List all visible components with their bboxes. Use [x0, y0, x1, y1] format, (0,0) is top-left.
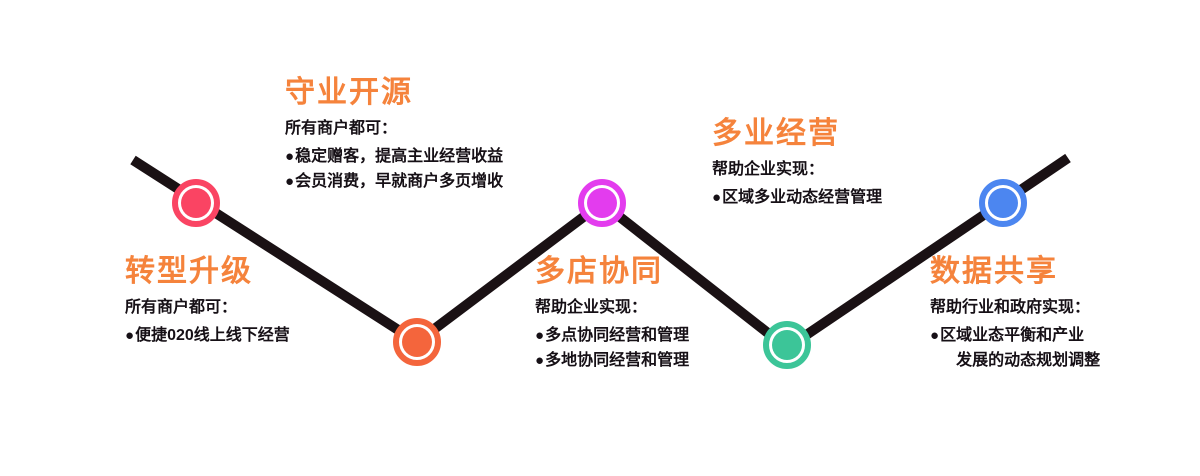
stage-bullet-list-duodian-xietong: ●多点协同经营和管理●多地协同经营和管理 [535, 323, 689, 375]
stage-bullet-list-zhuanxing-shengji: ●便捷020线上线下经营 [125, 323, 290, 349]
bullet-text: 多地协同经营和管理 [545, 348, 689, 374]
stage-lead-shuju-gongxiang: 帮助行业和政府实现： [930, 296, 1100, 320]
bullet-dot-icon: ● [285, 169, 294, 195]
bullet-dot-icon: ● [535, 348, 544, 374]
stage-title-shuju-gongxiang: 数据共享 [930, 255, 1100, 290]
stage-bullet-list-duoye-jingying: ●区域多业动态经营管理 [712, 185, 882, 211]
bullet-dot-icon: ● [125, 323, 134, 349]
node-core-dot [181, 188, 211, 218]
stage-lead-duoye-jingying: 帮助企业实现： [712, 158, 882, 182]
bullet-item: ●便捷020线上线下经营 [125, 323, 290, 349]
node-shouye-kaiyuan[interactable] [393, 318, 441, 366]
bullet-text: 便捷020线上线下经营 [135, 323, 290, 349]
bullet-line: 多地协同经营和管理 [545, 352, 689, 369]
bullet-line: 会员消费，早就商户多页增收 [295, 173, 503, 190]
stage-lead-duodian-xietong: 帮助企业实现： [535, 296, 689, 320]
bullet-line: 区域业态平衡和产业 [940, 327, 1084, 344]
bullet-text: 多点协同经营和管理 [545, 323, 689, 349]
stage-block-shouye-kaiyuan: 守业开源所有商户都可：●稳定赠客，提高主业经营收益●会员消费，早就商户多页增收 [285, 76, 503, 195]
bullet-line: 发展的动态规划调整 [940, 348, 1100, 374]
bullet-item: ●区域业态平衡和产业发展的动态规划调整 [930, 323, 1100, 375]
bullet-line: 稳定赠客，提高主业经营收益 [295, 148, 503, 165]
bullet-dot-icon: ● [535, 323, 544, 349]
node-duoye-jingying[interactable] [763, 321, 811, 369]
stage-block-duodian-xietong: 多店协同帮助企业实现：●多点协同经营和管理●多地协同经营和管理 [535, 255, 689, 374]
node-core-dot [988, 188, 1018, 218]
zigzag-path [0, 0, 1200, 476]
stage-lead-shouye-kaiyuan: 所有商户都可： [285, 117, 503, 141]
bullet-text: 会员消费，早就商户多页增收 [295, 169, 503, 195]
stage-block-zhuanxing-shengji: 转型升级所有商户都可：●便捷020线上线下经营 [125, 255, 290, 348]
bullet-item: ●会员消费，早就商户多页增收 [285, 169, 503, 195]
bullet-item: ●多点协同经营和管理 [535, 323, 689, 349]
bullet-text: 区域多业动态经营管理 [722, 185, 882, 211]
node-shuju-gongxiang[interactable] [979, 179, 1027, 227]
bullet-item: ●多地协同经营和管理 [535, 348, 689, 374]
infographic-canvas: 转型升级所有商户都可：●便捷020线上线下经营守业开源所有商户都可：●稳定赠客，… [0, 0, 1200, 476]
bullet-text: 区域业态平衡和产业发展的动态规划调整 [940, 323, 1100, 375]
node-core-dot [772, 330, 802, 360]
stage-lead-zhuanxing-shengji: 所有商户都可： [125, 296, 290, 320]
node-core-dot [402, 327, 432, 357]
stage-bullet-list-shouye-kaiyuan: ●稳定赠客，提高主业经营收益●会员消费，早就商户多页增收 [285, 144, 503, 196]
bullet-dot-icon: ● [712, 185, 721, 211]
bullet-dot-icon: ● [930, 323, 939, 349]
stage-title-shouye-kaiyuan: 守业开源 [285, 76, 503, 111]
bullet-text: 稳定赠客，提高主业经营收益 [295, 144, 503, 170]
bullet-dot-icon: ● [285, 144, 294, 170]
stage-block-shuju-gongxiang: 数据共享帮助行业和政府实现：●区域业态平衡和产业发展的动态规划调整 [930, 255, 1100, 374]
stage-title-duoye-jingying: 多业经营 [712, 117, 882, 152]
bullet-item: ●稳定赠客，提高主业经营收益 [285, 144, 503, 170]
bullet-line: 区域多业动态经营管理 [722, 189, 882, 206]
node-zhuanxing-shengji[interactable] [172, 179, 220, 227]
bullet-line: 多点协同经营和管理 [545, 327, 689, 344]
stage-title-duodian-xietong: 多店协同 [535, 255, 689, 290]
stage-title-zhuanxing-shengji: 转型升级 [125, 255, 290, 290]
stage-bullet-list-shuju-gongxiang: ●区域业态平衡和产业发展的动态规划调整 [930, 323, 1100, 375]
stage-block-duoye-jingying: 多业经营帮助企业实现：●区域多业动态经营管理 [712, 117, 882, 210]
bullet-line: 便捷020线上线下经营 [135, 327, 290, 344]
node-core-dot [587, 188, 617, 218]
node-duodian-xietong[interactable] [578, 179, 626, 227]
bullet-item: ●区域多业动态经营管理 [712, 185, 882, 211]
